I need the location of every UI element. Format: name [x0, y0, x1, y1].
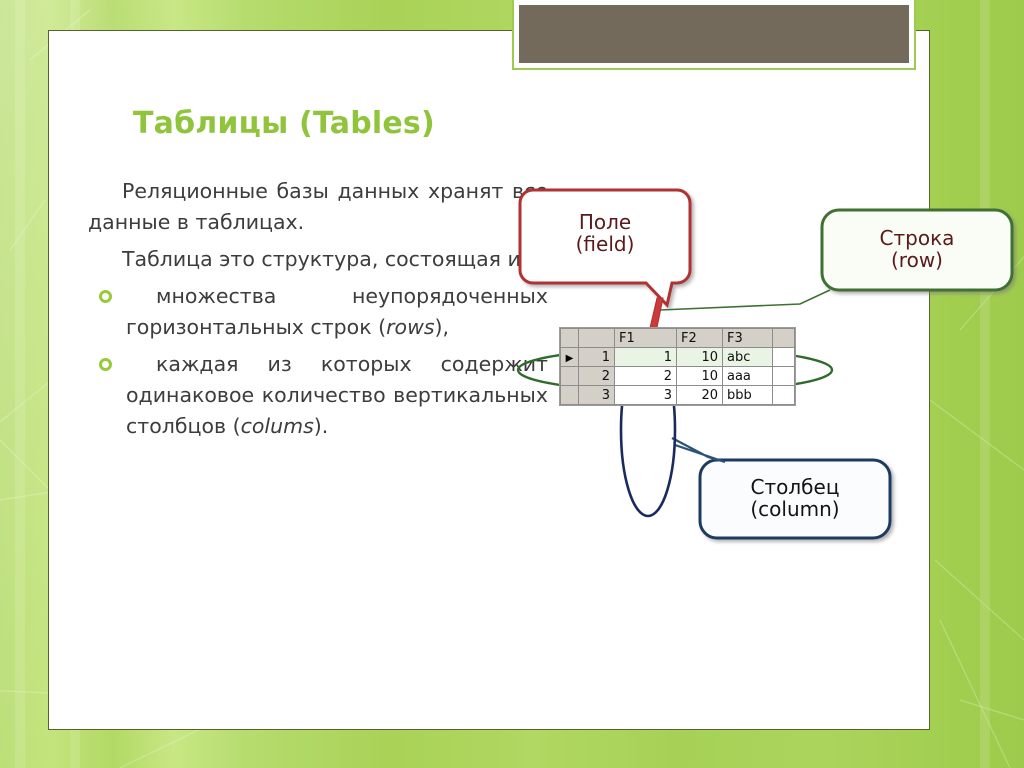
row-selector-cell: ▶: [561, 348, 579, 367]
header-f2: F2: [677, 329, 723, 348]
row-selector-arrow-icon: ▶: [566, 353, 574, 364]
list-item-text-italic: rows: [386, 315, 434, 339]
header-pad: [773, 329, 795, 348]
cell-f3: aaa: [723, 367, 773, 386]
header-rownum: [579, 329, 615, 348]
header-f1: F1: [615, 329, 677, 348]
paragraph-2: Таблица это структура, состоящая из:: [88, 244, 548, 275]
cell-f2: 10: [677, 348, 723, 367]
list-item: каждая из которых содержит одинаковое ко…: [88, 349, 548, 442]
header-selector: [561, 329, 579, 348]
row-number-cell: 3: [579, 386, 615, 405]
column-callout-shape: [700, 460, 890, 538]
body-text-column: Реляционные базы данных хранят все данны…: [88, 176, 548, 444]
row-callout-leader: [660, 290, 830, 310]
cell-f2: 20: [677, 386, 723, 405]
list-item-text-after: ),: [435, 315, 450, 339]
cell-pad: [773, 348, 795, 367]
header-banner-fill: [519, 5, 909, 63]
table-header-row: F1 F2 F3: [561, 329, 795, 348]
column-callout-leader: [672, 438, 725, 462]
list-item-text-italic: colums: [241, 414, 314, 438]
list-item: множества неупорядоченных горизонтальных…: [88, 281, 548, 343]
row-selector-cell: [561, 367, 579, 386]
header-f3: F3: [723, 329, 773, 348]
table-body: ▶ 1 1 10 abc 2 2 10 aaa 3 3 20 bbb: [561, 348, 795, 405]
cell-pad: [773, 386, 795, 405]
cell-f1: 1: [615, 348, 677, 367]
table-row: 3 3 20 bbb: [561, 386, 795, 405]
cell-f3: abc: [723, 348, 773, 367]
field-callout-shape: [520, 190, 690, 305]
header-banner: [512, 0, 916, 70]
table-row: 2 2 10 aaa: [561, 367, 795, 386]
row-callout-shape: [822, 210, 1012, 290]
table-row: ▶ 1 1 10 abc: [561, 348, 795, 367]
list-item-text-after: ).: [314, 414, 329, 438]
row-selector-cell: [561, 386, 579, 405]
database-table: F1 F2 F3 ▶ 1 1 10 abc 2 2 10 aaa: [560, 328, 795, 405]
page-title: Таблицы (Tables): [133, 106, 435, 141]
cell-f1: 3: [615, 386, 677, 405]
list-item-text: каждая из которых содержит одинаковое ко…: [126, 349, 548, 442]
cell-pad: [773, 367, 795, 386]
list-item-text: множества неупорядоченных горизонтальных…: [126, 281, 548, 343]
cell-f2: 10: [677, 367, 723, 386]
row-number-cell: 2: [579, 367, 615, 386]
row-number-cell: 1: [579, 348, 615, 367]
list-item-text-before: каждая из которых содержит одинаковое ко…: [126, 352, 548, 438]
cell-f3: bbb: [723, 386, 773, 405]
cell-f1: 2: [615, 367, 677, 386]
table-concept-diagram: Поле (field) Строка (row) Столбец (colum…: [500, 170, 1024, 560]
list-item-text-before: множества неупорядоченных горизонтальных…: [126, 284, 548, 339]
bullet-circle-icon: [99, 290, 112, 303]
bullet-circle-icon: [99, 358, 112, 371]
paragraph-1: Реляционные базы данных хранят все данны…: [88, 176, 548, 238]
